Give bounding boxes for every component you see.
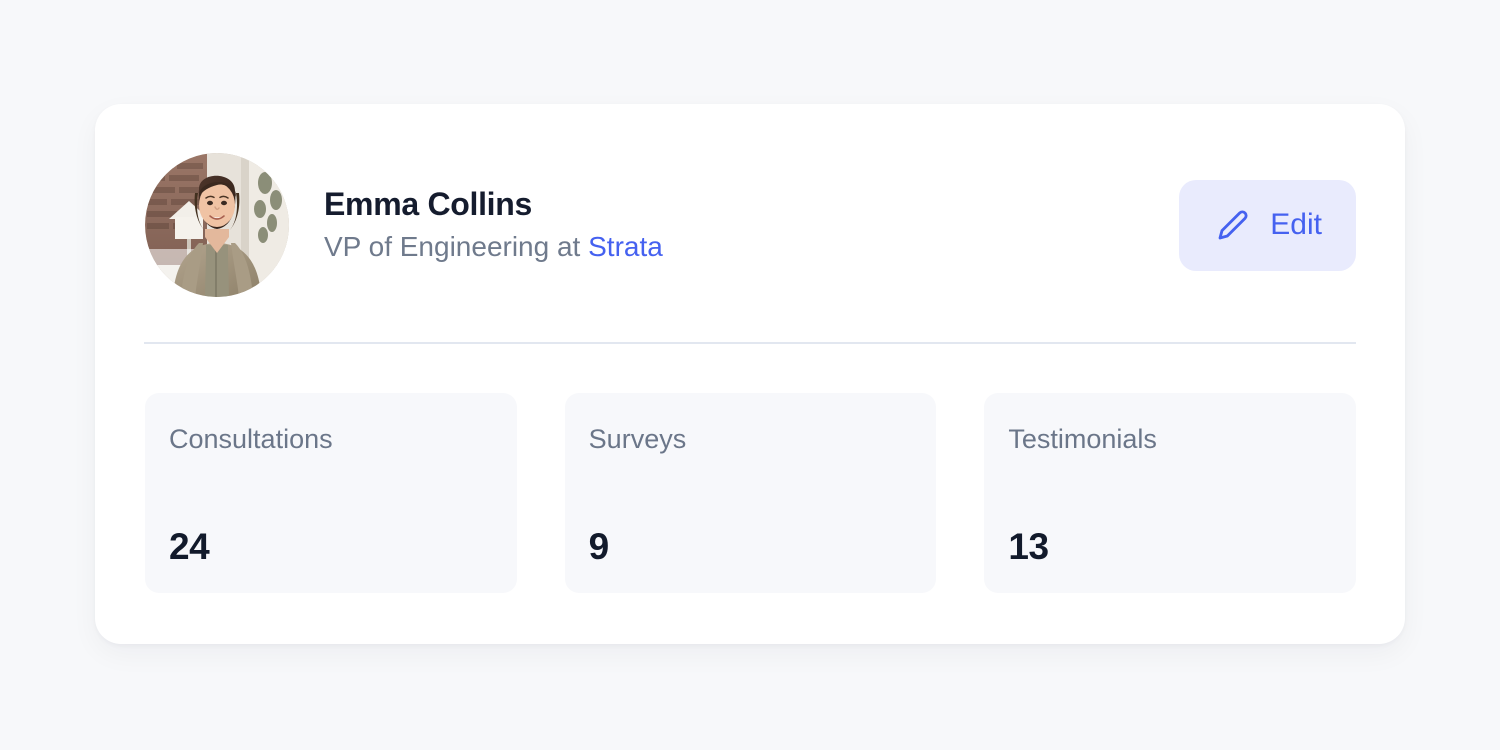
pencil-icon xyxy=(1213,205,1253,245)
avatar xyxy=(145,153,289,297)
stat-value: 13 xyxy=(1008,528,1048,565)
section-divider xyxy=(144,342,1356,344)
page-root: Emma Collins VP of Engineering at Strata… xyxy=(0,0,1500,750)
stat-value: 9 xyxy=(589,528,609,565)
edit-button[interactable]: Edit xyxy=(1179,180,1356,271)
stat-card-consultations: Consultations 24 xyxy=(145,393,517,593)
stat-label: Testimonials xyxy=(1008,423,1332,455)
stat-label: Consultations xyxy=(169,423,493,455)
company-link[interactable]: Strata xyxy=(588,231,663,262)
person-role: VP of Engineering at Strata xyxy=(324,230,663,264)
stat-value: 24 xyxy=(169,528,209,565)
page-title: Emma Collins xyxy=(324,186,663,224)
profile-card: Emma Collins VP of Engineering at Strata… xyxy=(95,104,1405,644)
edit-button-label: Edit xyxy=(1270,210,1322,240)
stat-label: Surveys xyxy=(589,423,913,455)
stats-row: Consultations 24 Surveys 9 Testimonials … xyxy=(145,393,1356,593)
profile-header: Emma Collins VP of Engineering at Strata… xyxy=(145,153,1356,297)
identity-block: Emma Collins VP of Engineering at Strata xyxy=(324,186,663,264)
role-text: VP of Engineering at xyxy=(324,231,588,262)
stat-card-testimonials: Testimonials 13 xyxy=(984,393,1356,593)
stat-card-surveys: Surveys 9 xyxy=(565,393,937,593)
